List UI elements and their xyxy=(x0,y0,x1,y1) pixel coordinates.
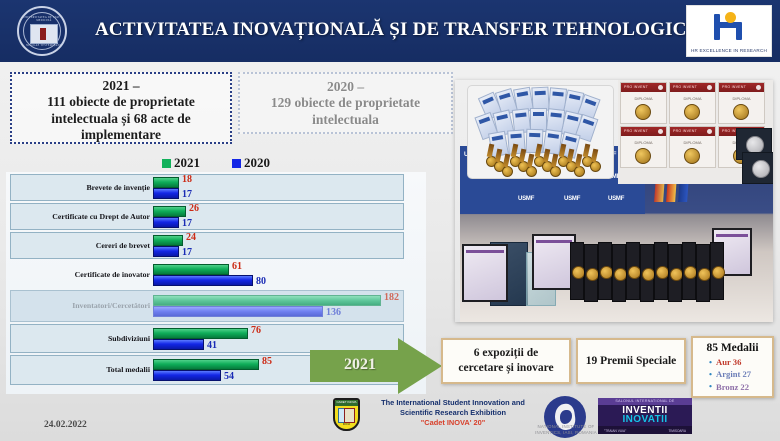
callout-2020-line3: intelectuala xyxy=(245,112,446,128)
inventii-top-text: SALONUL INTERNATIONAL DE xyxy=(598,399,692,403)
chart-category-label: Inventatori/Cercetători xyxy=(12,301,150,310)
chart-legend: 2021 2020 xyxy=(160,155,295,173)
slide-header: UNIVERSITATEA DE STAT DE MEDICINĂ NICOLA… xyxy=(0,0,780,62)
chart-value-label: 85 xyxy=(262,356,272,367)
chart-bar-2021 xyxy=(153,206,186,217)
diploma-box: PRO INVENTDIPLOMA xyxy=(620,126,667,168)
inventii-bottom-left: "TRAIAN VUIA" xyxy=(604,429,626,433)
seal-bottom-text: NICOLAE TESTEMIȚANU xyxy=(19,44,67,47)
university-seal-icon: UNIVERSITATEA DE STAT DE MEDICINĂ NICOLA… xyxy=(17,6,67,56)
usmf-banner-text: USMF xyxy=(518,196,534,202)
callout-2021-line4: implementare xyxy=(17,127,225,143)
chart-bar-2020 xyxy=(153,188,179,199)
chart-category-label: Brevete de invenție xyxy=(12,183,150,192)
chart-category-label: Certificate cu Drept de Autor xyxy=(12,212,150,221)
callout-2020-line2: 129 obiecte de proprietate xyxy=(245,95,446,111)
medal-in-box xyxy=(684,104,700,120)
medal-in-box xyxy=(684,148,700,164)
chart-row: Certificate de inovator6180 xyxy=(6,261,426,288)
chart-value-label: 61 xyxy=(232,261,242,272)
chart-value-label: 54 xyxy=(224,371,234,382)
medal-in-box xyxy=(733,104,749,120)
medal-in-box xyxy=(635,104,651,120)
chart-value-label: 136 xyxy=(326,307,341,318)
chart-bar-2020 xyxy=(153,246,179,257)
chart-value-label: 17 xyxy=(182,218,192,229)
page-title: ACTIVITATEA INOVAȚIONALĂ ȘI DE TRANSFER … xyxy=(95,19,665,41)
chart-bar-2021 xyxy=(153,264,229,275)
awards-photo-collage: USMFUSMFUSMFUSMFUSMFUSMFUSMFUSMFUSMFUSMF… xyxy=(455,80,773,322)
chart-bar-2021 xyxy=(153,328,248,339)
callout-2020: 2020 – 129 obiecte de proprietate intele… xyxy=(238,72,453,134)
chart-row: Inventatori/Cercetători182136 xyxy=(6,290,426,322)
legend-item-2021: 2021 xyxy=(162,155,200,171)
chart-bar-2020 xyxy=(153,339,204,350)
chart-value-label: 17 xyxy=(182,189,192,200)
chart-value-label: 17 xyxy=(182,247,192,258)
hr-excellence-logo: HR EXCELLENCE IN RESEARCH xyxy=(686,5,772,57)
chart-category-label: Cereri de brevet xyxy=(12,241,150,250)
chart-bar-2020 xyxy=(153,306,323,317)
chart-bar-2020 xyxy=(153,217,179,228)
chart-bar-2021 xyxy=(153,235,183,246)
year-arrow: 2021 xyxy=(310,338,442,394)
pro-invent-label: PRO INVENT xyxy=(673,85,697,89)
medal-ribbon xyxy=(590,161,601,172)
callout-2020-line1: 2020 – xyxy=(245,79,446,95)
cadet-inova-logo: CADET INOVA INOVA xyxy=(333,398,360,431)
box-expozitii: 6 expoziții de cercetare și inovare xyxy=(441,338,571,384)
pro-invent-label: PRO INVENT xyxy=(722,85,746,89)
inventii-inovatii-logo: SALONUL INTERNATIONAL DE INVENTII INOVAT… xyxy=(598,398,692,434)
cadet-shield-top-text: CADET INOVA xyxy=(335,400,358,404)
chart-row: Certificate cu Drept de Autor2617 xyxy=(6,203,426,230)
inventii-bottom-right: TIMISOARA xyxy=(668,429,686,433)
box-premii-speciale: 19 Premii Speciale xyxy=(576,338,686,384)
chart-value-label: 182 xyxy=(384,292,399,303)
chart-value-label: 26 xyxy=(189,203,199,214)
medal-ribbon xyxy=(550,166,561,177)
pro-invent-label: PRO INVENT xyxy=(624,85,648,89)
chart-value-label: 24 xyxy=(186,232,196,243)
medal-stands xyxy=(570,242,730,304)
box-medalii: 85 Medalii Aur 36 Argint 27 Bronz 22 xyxy=(691,336,774,398)
callout-2021-line1: 2021 – xyxy=(17,78,225,94)
diploma-label: DIPLOMA xyxy=(670,96,715,101)
chart-category-label: Total medalii xyxy=(12,365,150,374)
medal-item-argint: Argint 27 xyxy=(709,368,766,380)
chart-row: Brevete de invenție1817 xyxy=(6,174,426,201)
callout-2021: 2021 – 111 obiecte de proprietate intele… xyxy=(10,72,232,144)
diploma-label: DIPLOMA xyxy=(621,96,666,101)
legend-swatch-2021 xyxy=(162,159,171,168)
callout-2021-line2: 111 obiecte de proprietate xyxy=(17,94,225,110)
exhibition-line2: Scientific Research Exhibition xyxy=(368,408,538,418)
inventii-line2: INOVATII xyxy=(598,414,692,425)
chart-bar-2021 xyxy=(153,177,179,188)
chart-row: Cereri de brevet2417 xyxy=(6,232,426,259)
slide-date: 24.02.2022 xyxy=(44,420,87,430)
diploma-label: DIPLOMA xyxy=(719,96,764,101)
medal-case xyxy=(742,152,773,184)
box-premii-label: 19 Premii Speciale xyxy=(586,355,677,367)
diploma-label: DIPLOMA xyxy=(670,140,715,145)
box-expozitii-line2: cercetare și inovare xyxy=(443,361,569,376)
usmf-banner-text: USMF xyxy=(564,196,580,202)
diploma-box: PRO INVENTDIPLOMA xyxy=(718,82,765,124)
chart-value-label: 76 xyxy=(251,325,261,336)
pro-invent-label: PRO INVENT xyxy=(673,129,697,133)
photo-boxed-diplomas: PRO INVENTDIPLOMAPRO INVENTDIPLOMAPRO IN… xyxy=(618,80,773,184)
legend-label-2021: 2021 xyxy=(174,155,200,170)
chart-value-label: 18 xyxy=(182,174,192,185)
box-medalii-title: 85 Medalii xyxy=(699,342,766,354)
medal-item-bronz: Bronz 22 xyxy=(709,381,766,393)
medal-ribbon xyxy=(502,166,513,177)
pro-invent-label: PRO INVENT xyxy=(624,129,648,133)
medal-ribbon xyxy=(574,166,585,177)
medal-disc xyxy=(712,266,725,279)
seal-top-text: UNIVERSITATEA DE STAT DE MEDICINĂ xyxy=(19,16,67,22)
photo-diploma-fan xyxy=(467,85,614,179)
slide-root: UNIVERSITATEA DE STAT DE MEDICINĂ NICOLA… xyxy=(0,0,780,441)
chart-value-label: 41 xyxy=(207,340,217,351)
box-medalii-list: Aur 36 Argint 27 Bronz 22 xyxy=(699,356,766,393)
chart-value-label: 80 xyxy=(256,276,266,287)
medal-in-box xyxy=(635,148,651,164)
box-expozitii-line1: 6 expoziții de xyxy=(443,346,569,361)
medal-ribbon xyxy=(526,166,537,177)
chart-category-label: Subdiviziuni xyxy=(12,334,150,343)
chart-bar-2021 xyxy=(153,359,259,370)
usmf-banner-text: USMF xyxy=(608,196,624,202)
legend-item-2020: 2020 xyxy=(232,155,270,171)
chart-category-label: Certificate de inovator xyxy=(12,270,150,279)
diploma-box: PRO INVENTDIPLOMA xyxy=(669,126,716,168)
diploma-label: DIPLOMA xyxy=(621,140,666,145)
legend-swatch-2020 xyxy=(232,159,241,168)
legend-label-2020: 2020 xyxy=(244,155,270,170)
exhibition-line1: The International Student Innovation and xyxy=(368,398,538,408)
chart-bar-2020 xyxy=(153,275,253,286)
hr-logo-caption: HR EXCELLENCE IN RESEARCH xyxy=(687,48,771,53)
chart-bar-2021 xyxy=(153,295,381,306)
diploma-box: PRO INVENTDIPLOMA xyxy=(620,82,667,124)
diploma-box: PRO INVENTDIPLOMA xyxy=(669,82,716,124)
year-arrow-label: 2021 xyxy=(322,356,398,374)
callout-2021-line3: intelectuala și 68 acte de xyxy=(17,111,225,127)
chart-bar-2020 xyxy=(153,370,221,381)
medal-item-aur: Aur 36 xyxy=(709,356,766,368)
cadet-shield-bottom-text: INOVA xyxy=(335,423,358,426)
